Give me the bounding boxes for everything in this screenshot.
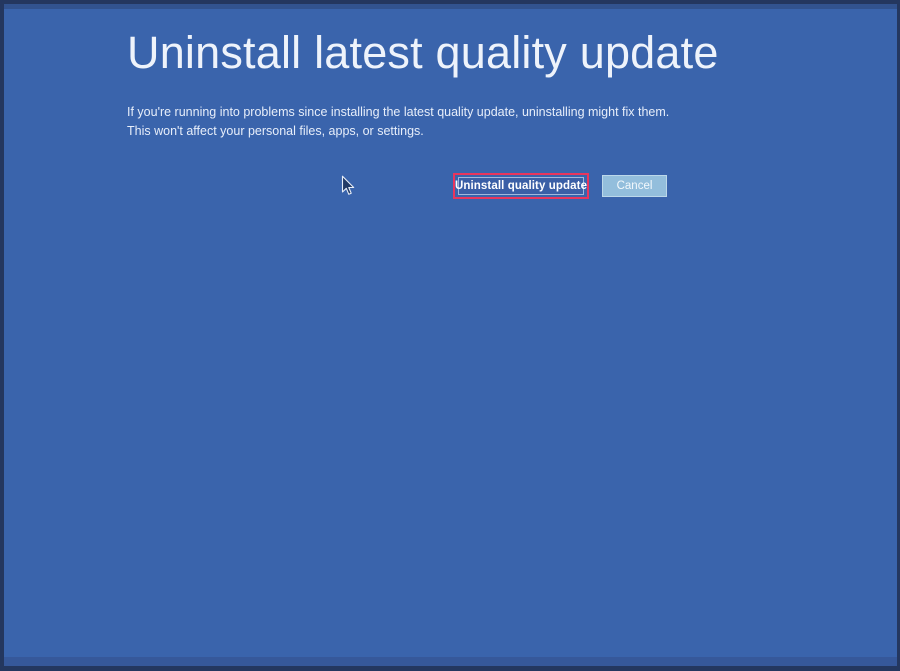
description-text: If you're running into problems since in… [127,103,687,141]
description-line-2: This won't affect your personal files, a… [127,122,687,141]
arrow-pointer-icon [341,175,357,197]
description-line-1: If you're running into problems since in… [127,103,687,122]
uninstall-quality-update-button[interactable]: Uninstall quality update [458,177,584,195]
window-edge-top [0,0,900,4]
window-edge-bottom-band [4,657,897,666]
page-title: Uninstall latest quality update [127,27,719,79]
window-edge-left [0,0,4,671]
window-edge-bottom [0,666,900,671]
window-edge-top-band [4,4,897,9]
cancel-button[interactable]: Cancel [602,175,667,197]
uninstall-update-screen: Uninstall latest quality update If you'r… [0,0,900,671]
